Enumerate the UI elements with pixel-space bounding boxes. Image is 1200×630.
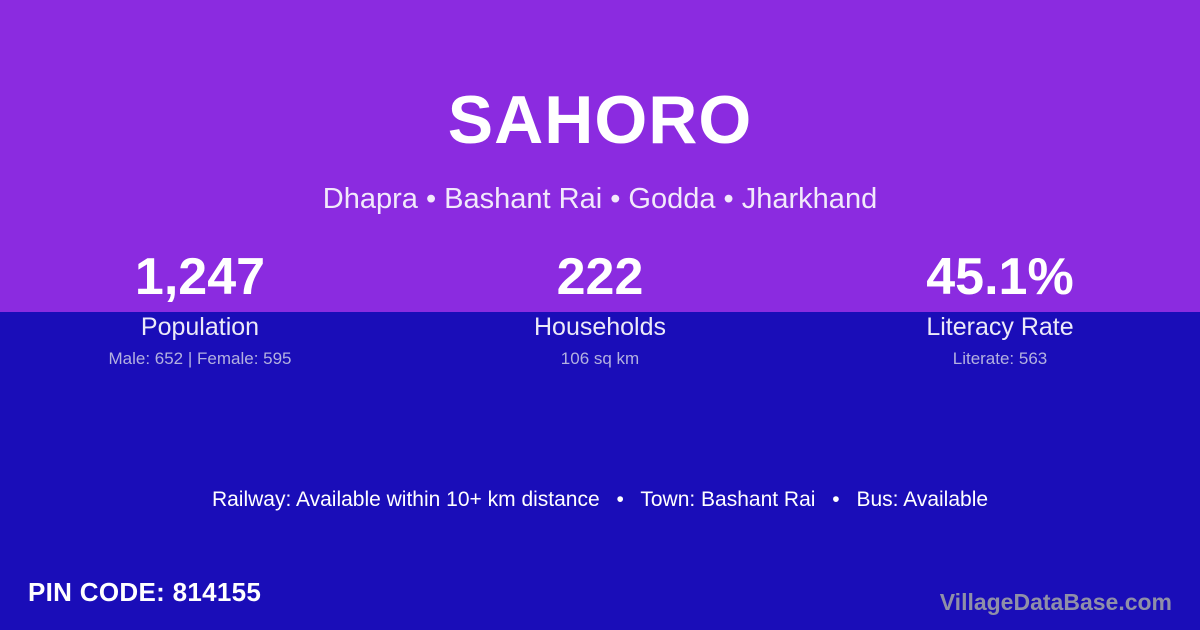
stat-detail: Male: 652 | Female: 595	[0, 346, 400, 372]
stat-detail: Literate: 563	[800, 346, 1200, 372]
bullet-separator-icon: •	[821, 486, 850, 514]
amenities-line: Railway: Available within 10+ km distanc…	[0, 486, 1200, 514]
stat-literacy-rate: 45.1% Literacy Rate Literate: 563	[800, 246, 1200, 372]
breadcrumb: Dhapra • Bashant Rai • Godda • Jharkhand	[0, 182, 1200, 217]
pin-code: PIN CODE: 814155	[28, 576, 261, 608]
stat-population: 1,247 Population Male: 652 | Female: 595	[0, 246, 400, 372]
card-content: SAHORO Dhapra • Bashant Rai • Godda • Jh…	[0, 0, 1200, 630]
stat-value: 222	[400, 246, 800, 308]
stat-value: 1,247	[0, 246, 400, 308]
stat-label: Households	[400, 308, 800, 346]
village-info-card: SAHORO Dhapra • Bashant Rai • Godda • Jh…	[0, 0, 1200, 630]
amenity-bus: Bus: Available	[857, 488, 989, 511]
stat-label: Population	[0, 308, 400, 346]
bullet-separator-icon: •	[606, 486, 635, 514]
stat-households: 222 Households 106 sq km	[400, 246, 800, 372]
site-brand: VillageDataBase.com	[940, 588, 1172, 616]
stat-detail: 106 sq km	[400, 346, 800, 372]
amenity-railway: Railway: Available within 10+ km distanc…	[212, 488, 600, 511]
page-title: SAHORO	[0, 86, 1200, 154]
stat-value: 45.1%	[800, 246, 1200, 308]
amenity-town: Town: Bashant Rai	[640, 488, 815, 511]
stat-label: Literacy Rate	[800, 308, 1200, 346]
stats-row: 1,247 Population Male: 652 | Female: 595…	[0, 246, 1200, 372]
